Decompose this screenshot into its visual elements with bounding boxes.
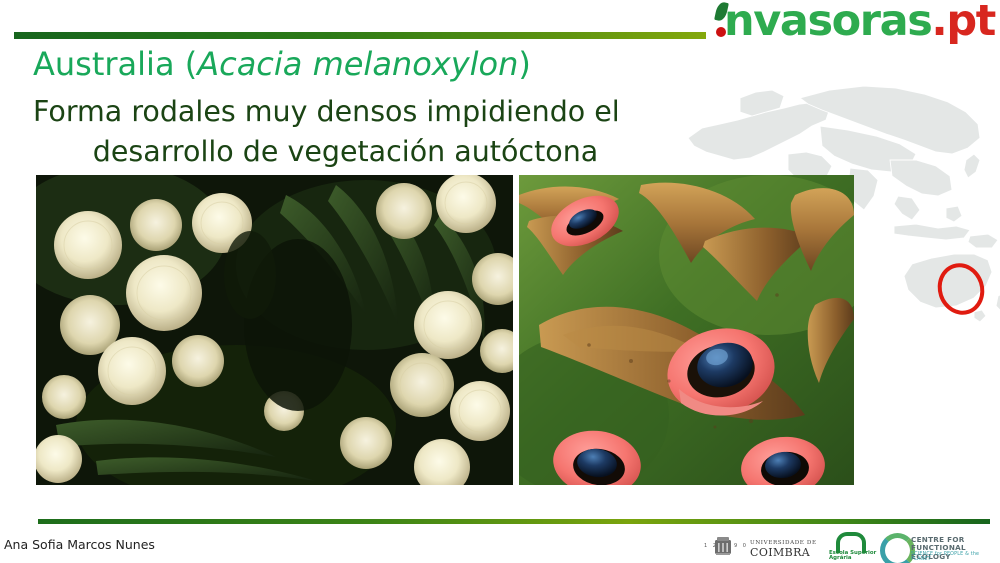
- presentation-slide: nvasoras.pt Australia (Acacia melanoxylo…: [0, 0, 1000, 563]
- header-accent-bar: [14, 32, 706, 39]
- title-close-paren: ): [518, 45, 530, 83]
- map-highlight-australia-circle: [931, 257, 991, 321]
- esa-name-line-2: Agrária: [829, 555, 851, 561]
- slide-subtitle: Forma rodales muy densos impidiendo el d…: [33, 92, 658, 173]
- invasoras-logo[interactable]: nvasoras.pt: [706, 0, 996, 44]
- logo-wordmark-tld: .pt: [931, 0, 994, 46]
- subtitle-line-2: desarrollo de vegetación autóctona: [33, 132, 658, 172]
- title-species: Acacia melanoxylon: [197, 45, 518, 83]
- acacia-pods-photo: [519, 175, 854, 485]
- logo-wordmark: nvasoras.pt: [724, 0, 995, 46]
- acacia-flowers-photo: [36, 175, 513, 485]
- ring-icon: [880, 533, 915, 563]
- centre-functional-ecology-logo[interactable]: CENTRE FOR FUNCTIONAL ECOLOGY SCIENCE fo…: [878, 531, 996, 561]
- logo-wordmark-name: nvasoras: [724, 0, 931, 46]
- footer-accent-bar: [38, 519, 990, 524]
- coimbra-crest-icon: [715, 537, 731, 556]
- universidade-coimbra-logo[interactable]: 1 2 9 0 UNIVERSIDADE DE COIMBRA: [700, 531, 825, 561]
- uc-year-right: 9 0: [734, 543, 748, 549]
- subtitle-line-1: Forma rodales muy densos impidiendo el: [33, 92, 658, 132]
- uc-name-line-2: COIMBRA: [750, 546, 810, 559]
- title-region: Australia (: [33, 45, 197, 83]
- cfe-tagline: SCIENCE for PEOPLE & the PLANET: [911, 552, 996, 562]
- author-name: Ana Sofia Marcos Nunes: [4, 537, 155, 552]
- footer-logos: 1 2 9 0 UNIVERSIDADE DE COIMBRA: [700, 531, 995, 561]
- page-title: Australia (Acacia melanoxylon): [33, 45, 531, 83]
